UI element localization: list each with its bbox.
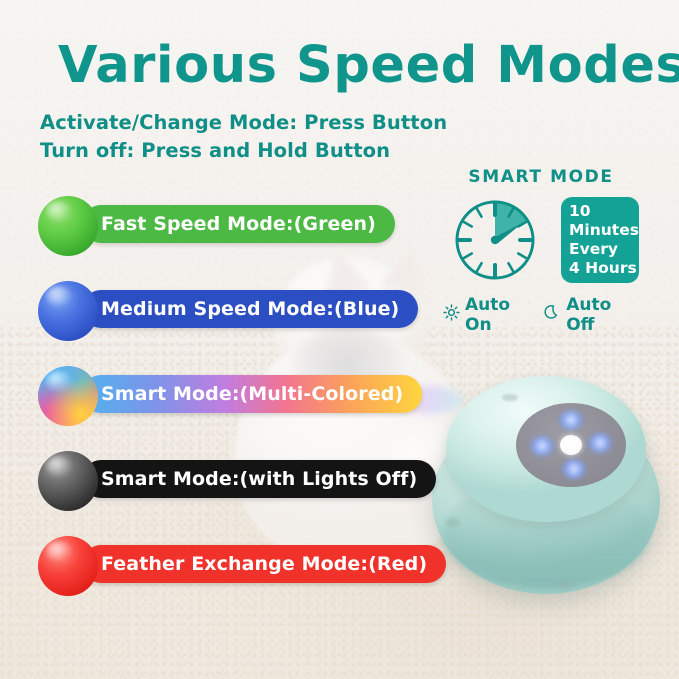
instruction-line-1: Activate/Change Mode: Press Button [40,111,447,134]
led-right [588,433,612,453]
schedule-line-1: 10 [569,202,639,221]
device-led-panel [516,403,626,487]
smart-mode-heading: SMART MODE [443,167,639,187]
led-bottom [562,459,586,479]
schedule-line-3: Every [569,240,639,259]
schedule-line-4: 4 Hours [569,259,639,278]
moon-icon [544,304,561,326]
mode-label-medium-speed: Medium Speed Mode:(Blue) [82,290,418,328]
mode-label-fast-speed: Fast Speed Mode:(Green) [82,205,395,243]
schedule-line-2: Minutes [569,221,639,240]
color-swatch-green [38,196,98,256]
sun-icon [443,304,460,326]
auto-schedule-row: Auto On Auto Off [443,295,639,335]
mode-label-feather-exchange: Feather Exchange Mode:(Red) [82,545,446,583]
mode-label-smart-lights-off: Smart Mode:(with Lights Off) [82,460,436,498]
auto-on-label: Auto On [465,295,536,335]
smart-mode-body: 10 Minutes Every 4 Hours [443,196,639,284]
device-seam-bottom [556,580,576,589]
page-title: Various Speed Modes [58,36,679,95]
auto-off-label: Auto Off [566,295,639,335]
led-left [530,436,554,456]
led-center-dot [560,435,582,455]
device-seam-top [502,394,518,401]
clock-icon [451,196,539,284]
infographic-page: Various Speed Modes Activate/Change Mode… [0,0,679,679]
smart-mode-panel: SMART MODE [443,167,639,335]
smart-mode-schedule-box: 10 Minutes Every 4 Hours [561,197,639,283]
auto-off-item: Auto Off [544,295,639,335]
color-swatch-black [38,451,98,511]
mode-label-smart-multicolored: Smart Mode:(Multi-Colored) [82,375,422,413]
auto-on-item: Auto On [443,295,536,335]
color-swatch-blue [38,281,98,341]
color-swatch-red [38,536,98,596]
led-top [559,410,583,430]
cat-toy-device [424,372,668,602]
color-swatch-multicolored [38,366,98,426]
instruction-line-2: Turn off: Press and Hold Button [40,139,390,162]
device-seam-left [446,518,460,527]
device-top-shell [446,376,646,522]
